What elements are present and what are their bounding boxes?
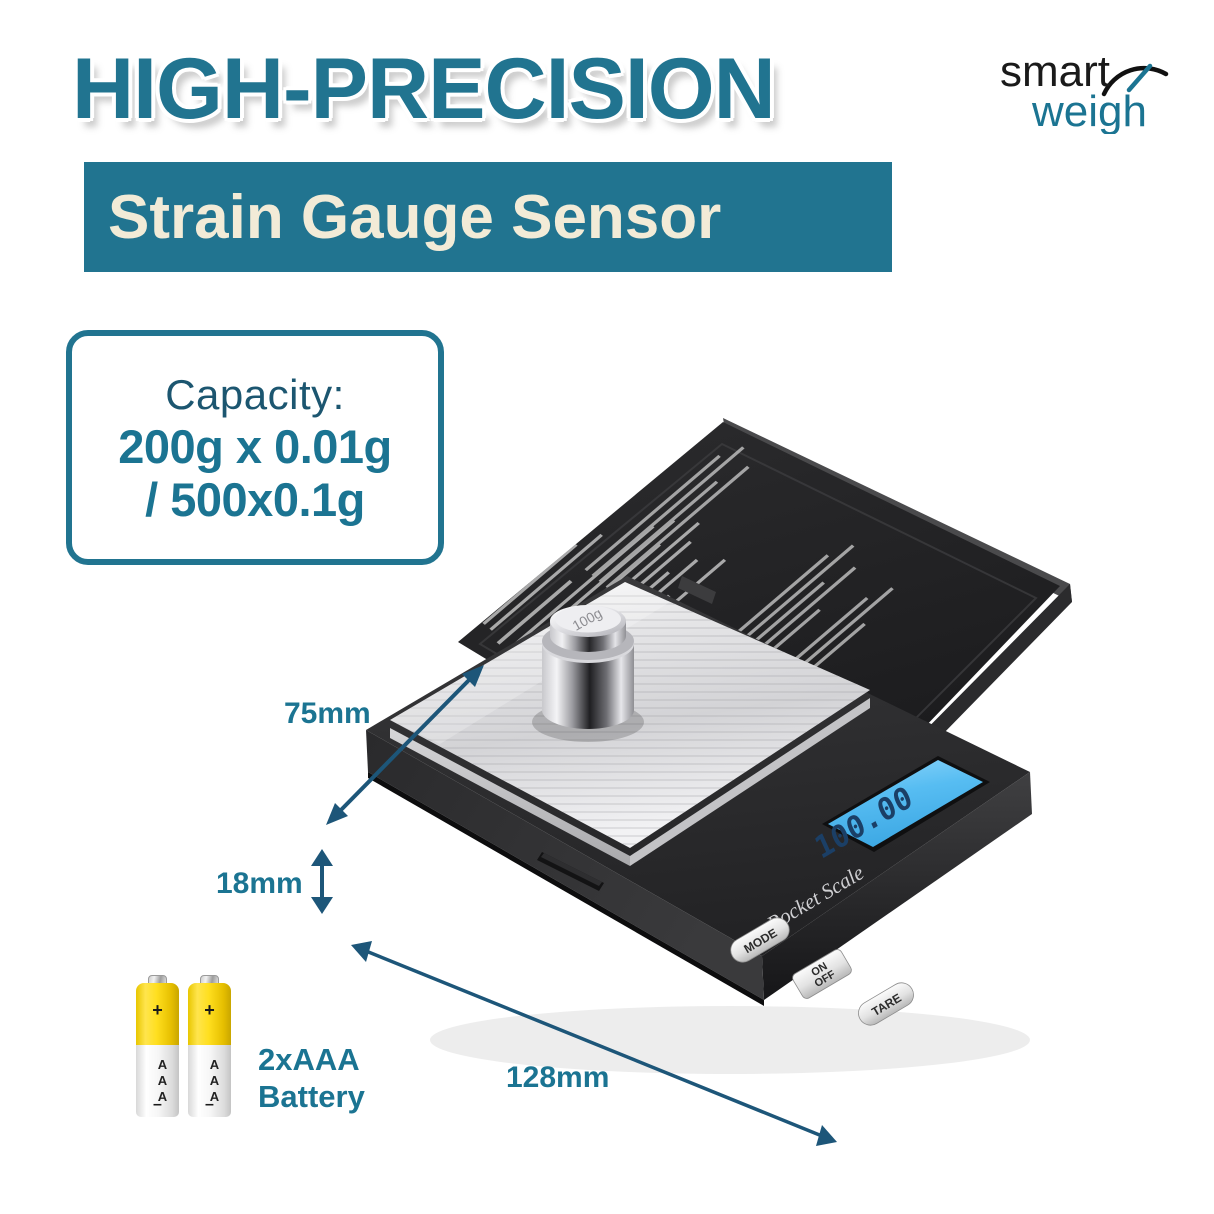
- battery-caption-line-2: Battery: [258, 1078, 365, 1115]
- dimension-label-height: 18mm: [216, 867, 303, 901]
- logo-word-weigh: weigh: [1031, 87, 1147, 134]
- battery-plus-symbol: +: [188, 1001, 231, 1019]
- battery-minus-symbol: –: [188, 1097, 231, 1113]
- dimension-label-depth: 75mm: [284, 697, 371, 731]
- battery-minus-symbol: –: [136, 1097, 179, 1113]
- page-title: HIGH-PRECISION: [72, 46, 775, 132]
- capacity-label: Capacity:: [165, 373, 345, 417]
- battery-cell-1: + AAA –: [136, 975, 179, 1117]
- subtitle-text: Strain Gauge Sensor: [108, 172, 898, 264]
- product-image-pocket-scale: 100g 100.00 Pocket Scale MODE: [330, 400, 1120, 1140]
- battery-cell-2: + AAA –: [188, 975, 231, 1117]
- battery-plus-symbol: +: [136, 1001, 179, 1019]
- brand-logo[interactable]: smart weigh: [998, 38, 1178, 134]
- battery-caption: 2xAAA Battery: [258, 1041, 365, 1115]
- infographic-page: HIGH-PRECISION Strain Gauge Sensor smart…: [0, 0, 1214, 1214]
- dimension-label-width: 128mm: [506, 1061, 609, 1095]
- battery-caption-line-1: 2xAAA: [258, 1041, 365, 1078]
